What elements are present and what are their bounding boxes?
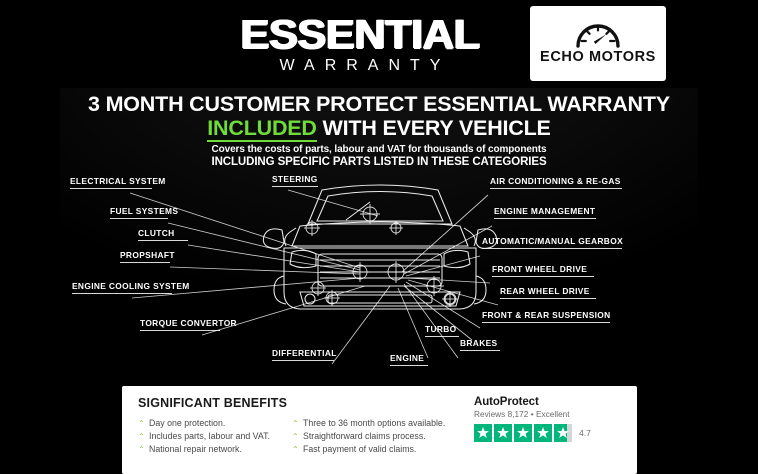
rating-quality: Excellent	[536, 410, 570, 419]
headline-part-2: WITH EVERY VEHICLE	[317, 116, 551, 140]
reviews-count: Reviews 8,172	[474, 410, 528, 419]
diagram-label-engine-management[interactable]: ENGINE MANAGEMENT	[494, 206, 596, 221]
label-text: CLUTCH	[138, 228, 175, 238]
benefits-column-1: ⌃Day one protection. ⌃Includes parts, la…	[138, 417, 270, 457]
car-wireframe-illustration	[263, 185, 496, 309]
subhead-line-1: Covers the costs of parts, labour and VA…	[60, 143, 698, 156]
diagram-lines-and-car	[60, 168, 698, 378]
label-text: FUEL SYSTEMS	[110, 206, 178, 216]
list-item: ⌃Includes parts, labour and VAT.	[138, 430, 270, 443]
rating-brand: AutoProtect	[474, 396, 624, 408]
diagram-label-clutch[interactable]: CLUTCH	[138, 228, 188, 243]
diagram-label-front-wheel-drive[interactable]: FRONT WHEEL DRIVE	[492, 264, 594, 279]
hero-subhead: Covers the costs of parts, labour and VA…	[60, 143, 698, 169]
label-text: ENGINE COOLING SYSTEM	[72, 281, 190, 291]
benefits-panel: SIGNIFICANT BENEFITS ⌃Day one protection…	[122, 386, 637, 474]
diagram-label-propshaft[interactable]: PROPSHAFT	[120, 250, 170, 265]
label-text: ENGINE MANAGEMENT	[494, 206, 595, 216]
page-title: ESSENTIAL	[169, 12, 551, 56]
rating-summary: Reviews 8,172 • Excellent	[474, 410, 624, 419]
label-text: ENGINE	[390, 353, 424, 363]
poster-content: ESSENTIAL WARRANTY ECHO MOTORS	[60, 0, 698, 474]
diagram-label-steering[interactable]: STEERING	[272, 174, 318, 189]
label-text: STEERING	[272, 174, 318, 184]
star-icon	[514, 424, 532, 442]
brand-logo-text: ECHO MOTORS	[540, 49, 656, 65]
benefits-column-2: ⌃Three to 36 month options available. ⌃S…	[292, 417, 445, 457]
list-item-text: National repair network.	[149, 444, 242, 454]
hero-headline: 3 MONTH CUSTOMER PROTECT ESSENTIAL WARRA…	[60, 92, 698, 140]
parts-diagram: ELECTRICAL SYSTEM FUEL SYSTEMS CLUTCH PR…	[60, 168, 698, 378]
caret-icon: ⌃	[138, 446, 145, 454]
list-item: ⌃Straightforward claims process.	[292, 430, 445, 443]
rating-block: AutoProtect Reviews 8,172 • Excellent 4.…	[474, 396, 624, 442]
diagram-label-engine-cooling-system[interactable]: ENGINE COOLING SYSTEM	[72, 281, 172, 296]
diagram-label-electrical-system[interactable]: ELECTRICAL SYSTEM	[70, 176, 152, 191]
label-text: TURBO	[425, 324, 457, 334]
headline-highlight: INCLUDED	[207, 116, 316, 142]
caret-icon: ⌃	[138, 433, 145, 441]
list-item: ⌃Day one protection.	[138, 417, 270, 430]
poster-canvas: ESSENTIAL WARRANTY ECHO MOTORS	[0, 0, 758, 474]
list-item: ⌃Three to 36 month options available.	[292, 417, 445, 430]
star-icon	[474, 424, 492, 442]
label-text: AUTOMATIC/MANUAL GEARBOX	[482, 236, 623, 246]
list-item-text: Three to 36 month options available.	[303, 418, 445, 428]
label-text: ELECTRICAL SYSTEM	[70, 176, 166, 186]
label-text: FRONT WHEEL DRIVE	[492, 264, 587, 274]
label-text: DIFFERENTIAL	[272, 348, 337, 358]
caret-icon: ⌃	[292, 420, 299, 428]
star-rating[interactable]: 4.7	[474, 424, 624, 442]
diagram-label-automatic-manual-gearbox[interactable]: AUTOMATIC/MANUAL GEARBOX	[482, 236, 622, 251]
star-icon-partial	[554, 424, 572, 442]
diagram-label-rear-wheel-drive[interactable]: REAR WHEEL DRIVE	[500, 286, 596, 301]
label-text: FRONT & REAR SUSPENSION	[482, 310, 611, 320]
label-text: TORQUE CONVERTOR	[140, 318, 237, 328]
diagram-label-turbo[interactable]: TURBO	[425, 324, 459, 339]
star-icon	[494, 424, 512, 442]
rating-score: 4.7	[579, 428, 591, 438]
list-item-text: Includes parts, labour and VAT.	[149, 431, 270, 441]
diagram-label-front-rear-suspension[interactable]: FRONT & REAR SUSPENSION	[482, 310, 610, 325]
caret-icon: ⌃	[292, 433, 299, 441]
diagram-label-torque-convertor[interactable]: TORQUE CONVERTOR	[140, 318, 220, 333]
diagram-label-brakes[interactable]: BRAKES	[460, 338, 500, 353]
diagram-label-differential[interactable]: DIFFERENTIAL	[272, 348, 334, 363]
diagram-label-fuel-systems[interactable]: FUEL SYSTEMS	[110, 206, 168, 221]
poster-header: ESSENTIAL WARRANTY ECHO MOTORS	[60, 0, 698, 88]
separator-dot: •	[531, 410, 534, 419]
page-subtitle: WARRANTY	[180, 57, 540, 75]
headline-part-1: 3 MONTH CUSTOMER PROTECT ESSENTIAL WARRA…	[88, 92, 670, 116]
list-item-text: Fast payment of valid claims.	[303, 444, 416, 454]
brand-logo[interactable]: ECHO MOTORS	[530, 6, 666, 81]
diagram-label-engine[interactable]: ENGINE	[390, 353, 428, 368]
list-item: ⌃Fast payment of valid claims.	[292, 443, 445, 456]
list-item-text: Straightforward claims process.	[303, 431, 426, 441]
label-text: AIR CONDITIONING & RE-GAS	[490, 176, 621, 186]
diagram-label-air-conditioning[interactable]: AIR CONDITIONING & RE-GAS	[490, 176, 622, 191]
list-item-text: Day one protection.	[149, 418, 225, 428]
label-text: PROPSHAFT	[120, 250, 175, 260]
label-text: BRAKES	[460, 338, 497, 348]
star-icon	[534, 424, 552, 442]
list-item: ⌃National repair network.	[138, 443, 270, 456]
caret-icon: ⌃	[292, 446, 299, 454]
caret-icon: ⌃	[138, 420, 145, 428]
label-text: REAR WHEEL DRIVE	[500, 286, 590, 296]
speedometer-gauge-icon	[575, 22, 621, 48]
